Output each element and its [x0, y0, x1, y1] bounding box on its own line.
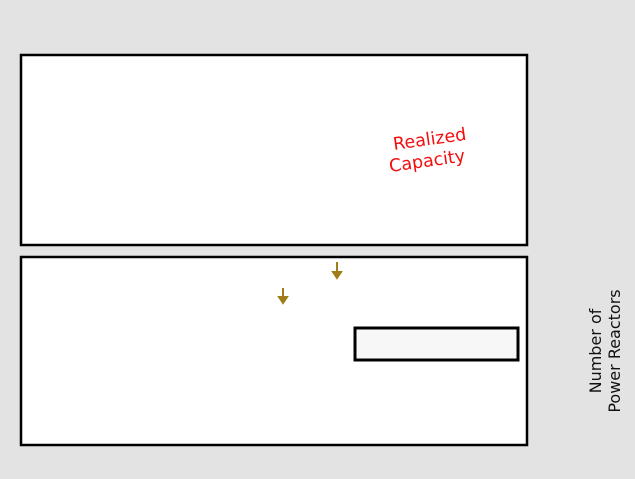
bottom-panel-y-axis-title-line1: Number of	[586, 308, 605, 393]
top-panel: Realized Capacity	[21, 55, 527, 245]
chart-page: Realized Capacity	[0, 0, 635, 479]
nuclear-power-chart: Realized Capacity	[0, 0, 635, 479]
active-reactors-box	[355, 328, 518, 360]
bottom-panel: Number of Power Reactors	[21, 257, 624, 445]
bottom-panel-y-axis-title-line2: Power Reactors	[605, 289, 624, 412]
active-reactors-legend-box	[355, 328, 518, 360]
